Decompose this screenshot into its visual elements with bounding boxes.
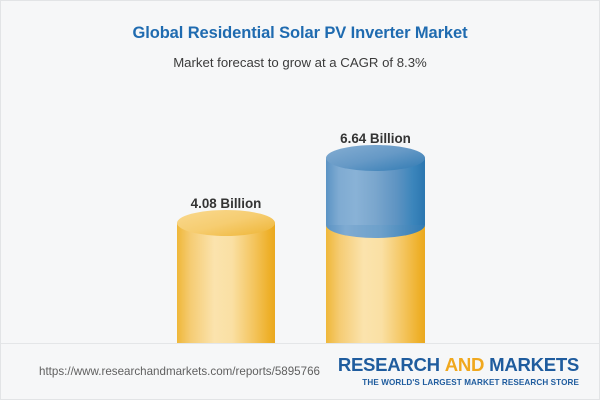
logo-word-markets: MARKETS	[489, 354, 579, 375]
logo-wordmark: RESEARCHANDMARKETS	[338, 356, 579, 375]
bar-segment-base-2028	[326, 219, 425, 346]
bar-top-ellipse-2022	[177, 210, 275, 236]
logo-word-research: RESEARCH	[338, 354, 440, 375]
bar-value-label-2028: 6.64 Billion	[340, 131, 411, 146]
bar-value-label-2022: 4.08 Billion	[191, 196, 262, 211]
logo-tagline: THE WORLD'S LARGEST MARKET RESEARCH STOR…	[338, 379, 579, 387]
page-title: Global Residential Solar PV Inverter Mar…	[1, 24, 599, 43]
bar-2022[interactable]: 4.08 Billion 2022	[177, 119, 275, 346]
research-and-markets-logo[interactable]: RESEARCHANDMARKETS THE WORLD'S LARGEST M…	[338, 356, 579, 387]
chart-card: Global Residential Solar PV Inverter Mar…	[0, 0, 600, 400]
bar-2028[interactable]: 6.64 Billion 2028	[326, 119, 425, 346]
bar-top-ellipse-2028	[326, 145, 425, 171]
bar-segment-growth-2028	[326, 158, 425, 225]
bar-body-overlay-2022	[177, 223, 275, 346]
chart-subtitle: Market forecast to grow at a CAGR of 8.3…	[1, 55, 599, 70]
report-url[interactable]: https://www.researchandmarkets.com/repor…	[39, 365, 320, 378]
plot-area: 4.08 Billion 2022 6.64 Billion	[1, 81, 600, 346]
logo-word-and: AND	[445, 354, 484, 375]
bar-cylinder-2022	[177, 223, 275, 346]
bar-cylinder-2028	[326, 158, 425, 346]
footer: https://www.researchandmarkets.com/repor…	[1, 343, 600, 399]
